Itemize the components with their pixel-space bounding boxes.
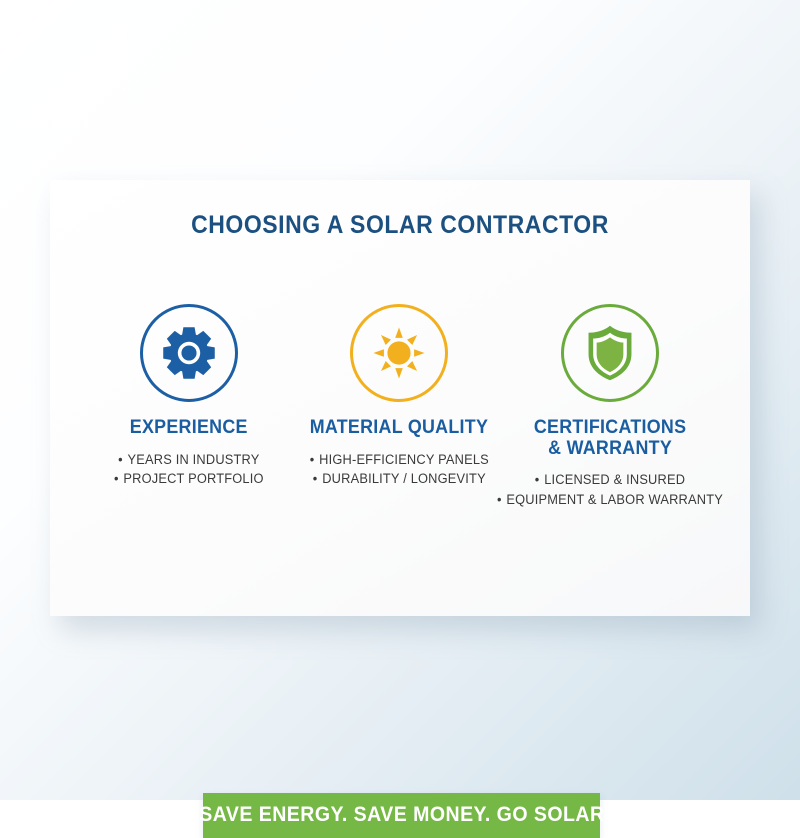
gear-icon [140, 304, 238, 402]
feature-column-experience: EXPERIENCE YEARS IN INDUSTRY PROJECT POR… [84, 304, 294, 523]
feature-bullets: YEARS IN INDUSTRY PROJECT PORTFOLIO [114, 450, 264, 489]
sun-icon [350, 304, 448, 402]
list-item: YEARS IN INDUSTRY [114, 450, 264, 470]
shield-icon [561, 304, 659, 402]
list-item: LICENSED & INSURED [497, 470, 723, 490]
list-item: EQUIPMENT & LABOR WARRANTY [497, 490, 723, 510]
infographic-canvas: CHOOSING A SOLAR CONTRACTOR [0, 0, 800, 800]
feature-heading: EXPERIENCE [130, 418, 248, 439]
feature-bullets: HIGH-EFFICIENCY PANELS DURABILITY / LONG… [309, 450, 488, 489]
infographic-card: CHOOSING A SOLAR CONTRACTOR [50, 180, 750, 616]
list-item: HIGH-EFFICIENCY PANELS [309, 450, 488, 470]
feature-heading: MATERIAL QUALITY [310, 418, 488, 439]
feature-column-material-quality: MATERIAL QUALITY HIGH-EFFICIENCY PANELS … [294, 304, 504, 523]
list-item: PROJECT PORTFOLIO [114, 469, 264, 489]
page-title: CHOOSING A SOLAR CONTRACTOR [78, 211, 722, 240]
list-item: DURABILITY / LONGEVITY [309, 469, 488, 489]
cta-banner-label: SAVE ENERGY. SAVE MONEY. GO SOLAR [199, 803, 604, 827]
feature-bullets: LICENSED & INSURED EQUIPMENT & LABOR WAR… [497, 470, 723, 509]
feature-columns: EXPERIENCE YEARS IN INDUSTRY PROJECT POR… [50, 304, 750, 523]
cta-banner[interactable]: SAVE ENERGY. SAVE MONEY. GO SOLAR [203, 793, 600, 838]
feature-heading: CERTIFICATIONS & WARRANTY [534, 418, 686, 459]
feature-column-certifications: CERTIFICATIONS & WARRANTY LICENSED & INS… [504, 304, 716, 523]
